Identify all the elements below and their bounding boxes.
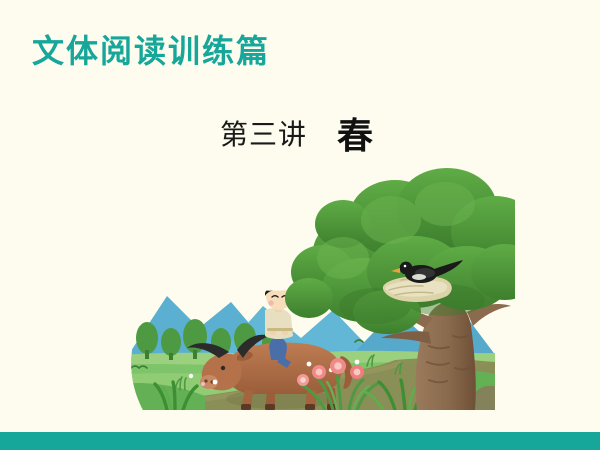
bamboo-flute (267, 328, 293, 331)
bottom-accent-bar (0, 432, 600, 450)
page-title: 文体阅读训练篇 (32, 32, 270, 70)
lesson-topic-label: 春 (337, 107, 373, 159)
slide-canvas: 文体阅读训练篇 第三讲 春 (0, 0, 600, 450)
lesson-number-label: 第三讲 (220, 113, 307, 153)
spring-pastoral-illustration (95, 160, 515, 410)
lesson-heading: 第三讲 春 (220, 103, 373, 155)
